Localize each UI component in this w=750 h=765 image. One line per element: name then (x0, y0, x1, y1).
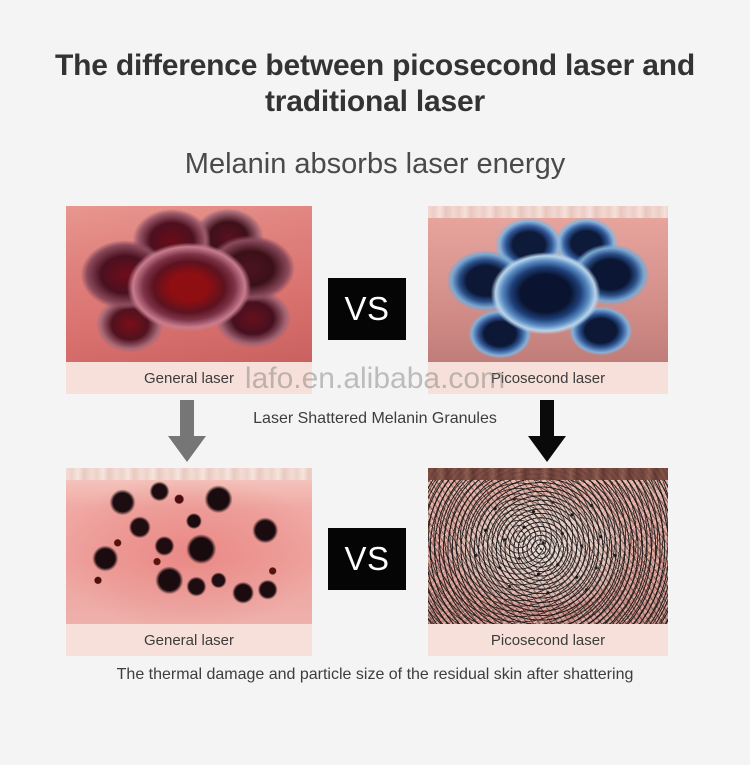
section-subtitle: Melanin absorbs laser energy (0, 146, 750, 182)
skin-surface-strip (66, 468, 312, 480)
photo-picosecond-laser-granules (428, 468, 668, 624)
photo-general-laser-cells (66, 206, 312, 362)
caption-general-laser-top: General laser (66, 362, 312, 394)
mid-caption: Laser Shattered Melanin Granules (0, 410, 750, 428)
photo-picosecond-laser-cells (428, 206, 668, 362)
panel-picosecond-laser-bottom: Picosecond laser (428, 468, 668, 656)
infographic-page: The difference between picosecond laser … (0, 0, 750, 765)
skin-surface-strip (428, 468, 668, 480)
vs-badge-top: VS (328, 278, 406, 340)
bottom-caption: The thermal damage and particle size of … (0, 666, 750, 684)
page-title: The difference between picosecond laser … (0, 48, 750, 120)
caption-general-laser-bottom: General laser (66, 624, 312, 656)
panel-general-laser-bottom: General laser (66, 468, 312, 656)
skin-surface-strip (428, 206, 668, 218)
panel-general-laser-top: General laser (66, 206, 312, 394)
caption-picosecond-laser-top: Picosecond laser (428, 362, 668, 394)
photo-general-laser-residual-particles (66, 468, 312, 624)
vs-badge-bottom: VS (328, 528, 406, 590)
panel-picosecond-laser-top: Picosecond laser (428, 206, 668, 394)
caption-picosecond-laser-bottom: Picosecond laser (428, 624, 668, 656)
